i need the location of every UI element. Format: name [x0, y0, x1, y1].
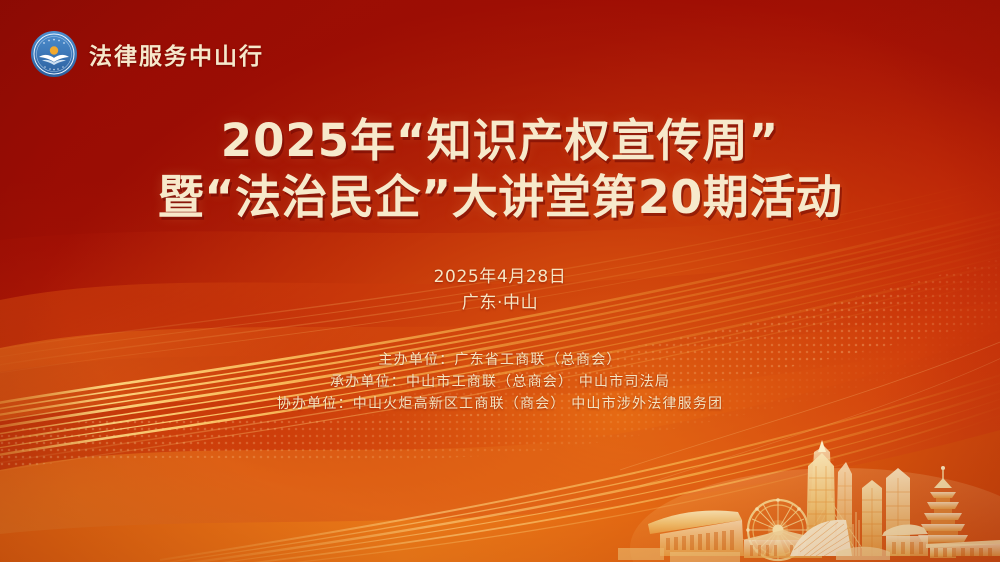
legal-service-emblem-icon	[30, 30, 78, 78]
title-line-1: 2025年“知识产权宣传周”	[0, 113, 1000, 169]
brand-logo-text: 法律服务中山行	[89, 37, 264, 71]
poster-title: 2025年“知识产权宣传周” 暨“法治民企”大讲堂第20期活动	[0, 113, 1000, 225]
brand-logo-row: 法律服务中山行	[30, 30, 264, 78]
event-location: 广东·中山	[0, 290, 1000, 316]
event-meta: 2025年4月28日 广东·中山	[0, 264, 1000, 316]
poster-canvas: 法律服务中山行 2025年“知识产权宣传周” 暨“法治民企”大讲堂第20期活动 …	[0, 0, 1000, 562]
organizer-line-organizer: 承办单位：中山市工商联（总商会） 中山市司法局	[0, 371, 1000, 393]
organizer-block: 主办单位：广东省工商联（总商会） 承办单位：中山市工商联（总商会） 中山市司法局…	[0, 349, 1000, 415]
organizer-line-host: 主办单位：广东省工商联（总商会）	[0, 349, 1000, 371]
event-date: 2025年4月28日	[0, 264, 1000, 290]
organizer-line-coorganizer: 协办单位：中山火炬高新区工商联（商会） 中山市涉外法律服务团	[0, 393, 1000, 415]
title-line-2: 暨“法治民企”大讲堂第20期活动	[0, 169, 1000, 225]
